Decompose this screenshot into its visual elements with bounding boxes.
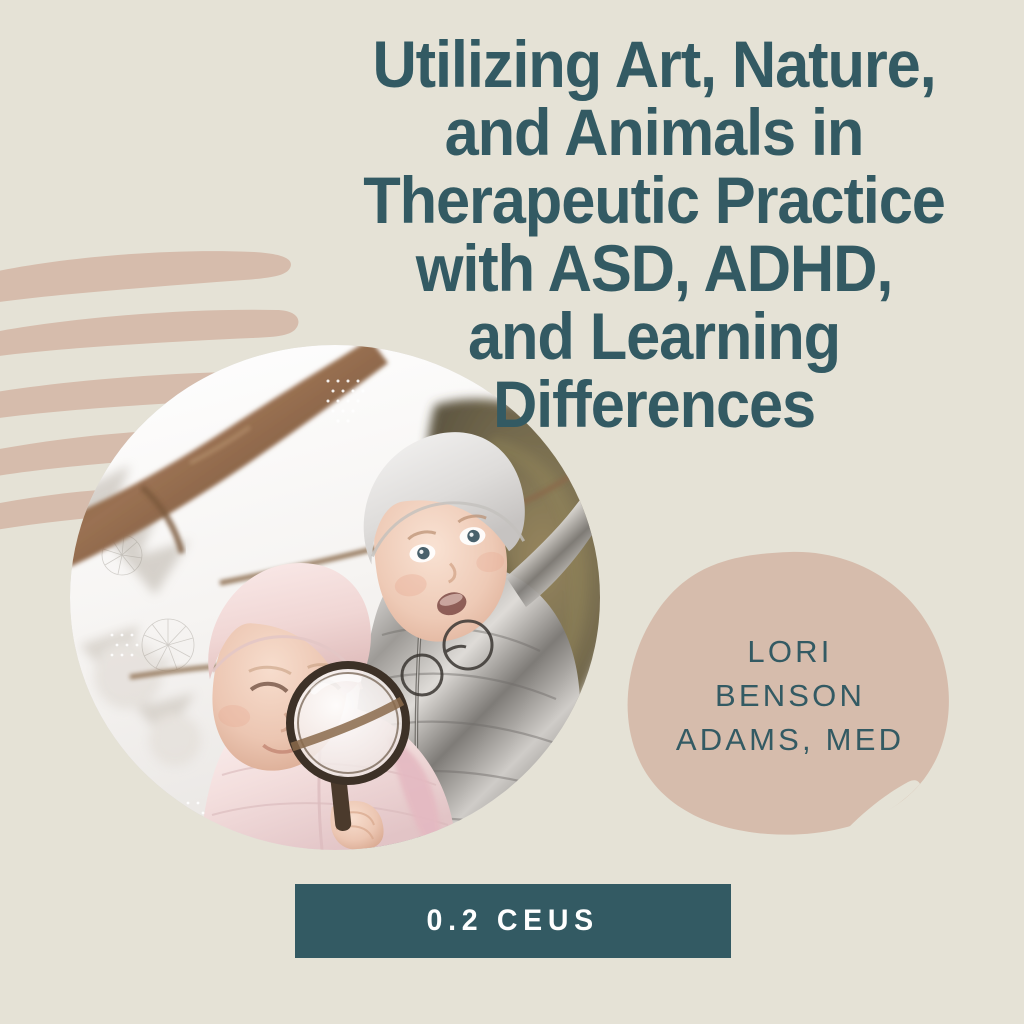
title-line-1: Utilizing Art, Nature,: [321, 30, 987, 98]
presenter-name-line-1: LORI: [640, 630, 940, 674]
ceus-badge-label: 0.2 CEUS: [427, 904, 599, 938]
page-title: Utilizing Art, Nature, and Animals in Th…: [296, 30, 1012, 438]
title-line-2: and Animals in: [321, 98, 987, 166]
title-line-3: Therapeutic Practice: [321, 166, 987, 234]
presenter-name-line-2: BENSON: [640, 674, 940, 718]
presenter-name: LORI BENSON ADAMS, MED: [640, 630, 940, 762]
title-line-4: with ASD, ADHD,: [321, 234, 987, 302]
ceus-badge: 0.2 CEUS: [295, 884, 731, 958]
title-line-5: and Learning: [321, 302, 987, 370]
poster-canvas: Utilizing Art, Nature, and Animals in Th…: [0, 0, 1024, 1024]
presenter-name-line-3: ADAMS, MED: [640, 718, 940, 762]
title-line-6: Differences: [321, 370, 987, 438]
